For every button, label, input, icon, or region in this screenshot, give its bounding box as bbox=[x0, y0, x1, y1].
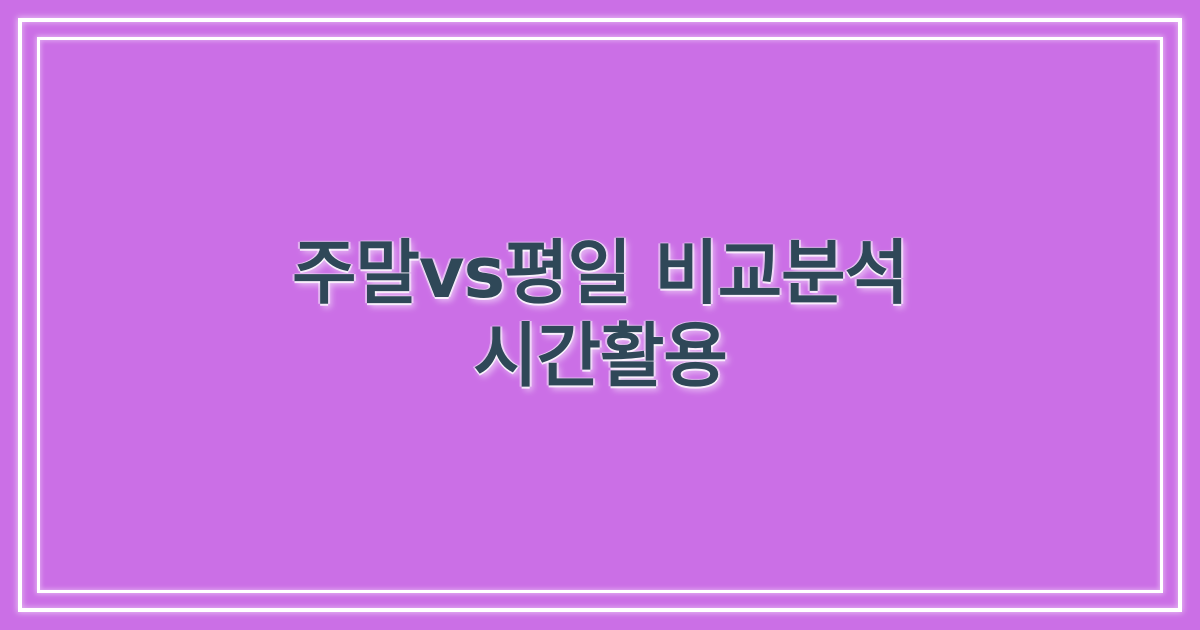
title-line-2: 시간활용 bbox=[473, 315, 727, 398]
thumbnail-card: 주말vs평일 비교분석 시간활용 bbox=[0, 0, 1200, 630]
title-line-1: 주말vs평일 비교분석 bbox=[292, 232, 908, 315]
title-block: 주말vs평일 비교분석 시간활용 bbox=[0, 0, 1200, 630]
